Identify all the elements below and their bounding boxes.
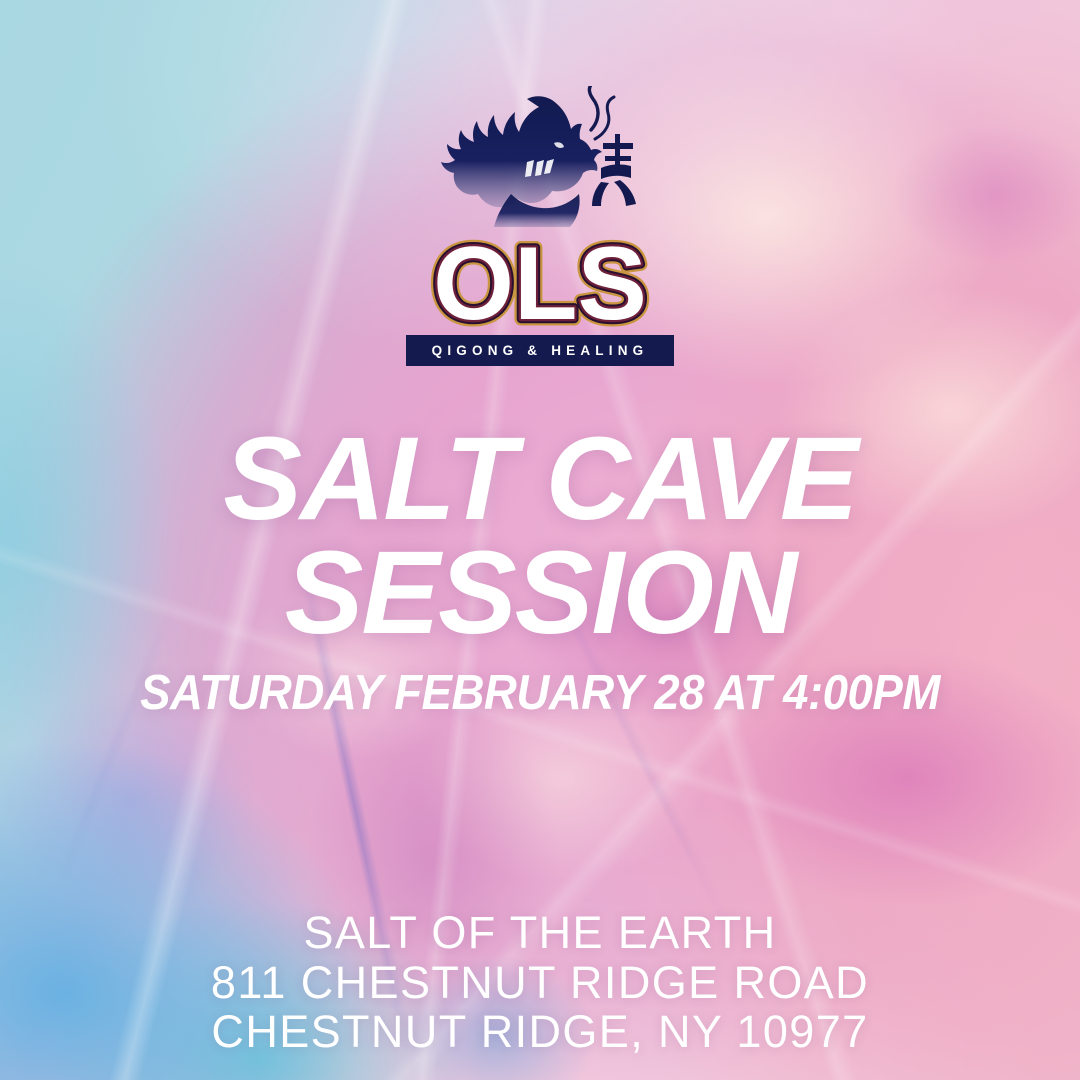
event-flyer: .olsTxt{font-family:"Liberation Sans",sa…: [0, 0, 1080, 1080]
svg-text:OLS: OLS: [433, 235, 647, 339]
dragon-silhouette-icon: [415, 86, 665, 241]
venue-street: 811 CHESTNUT RIDGE ROAD: [0, 958, 1080, 1008]
headline-line-2: SESSION: [0, 539, 1080, 649]
logo-tagline-banner: QIGONG & HEALING: [406, 335, 675, 366]
event-datetime: SATURDAY FEBRUARY 28 AT 4:00PM: [38, 665, 1042, 721]
dragon-scroll-glyph: [592, 134, 636, 206]
ols-wordmark: .olsTxt{font-family:"Liberation Sans",sa…: [390, 235, 690, 339]
headline-line-1: SALT CAVE: [0, 425, 1080, 535]
flyer-content: .olsTxt{font-family:"Liberation Sans",sa…: [0, 0, 1080, 1080]
page-title: SALT CAVE SESSION: [0, 425, 1080, 648]
logo-tagline-text: QIGONG & HEALING: [432, 344, 649, 358]
venue-city: CHESTNUT RIDGE, NY 10977: [0, 1007, 1080, 1057]
venue-address: SALT OF THE EARTH 811 CHESTNUT RIDGE ROA…: [0, 908, 1080, 1057]
venue-name: SALT OF THE EARTH: [0, 908, 1080, 958]
ols-logo: .olsTxt{font-family:"Liberation Sans",sa…: [375, 86, 705, 366]
